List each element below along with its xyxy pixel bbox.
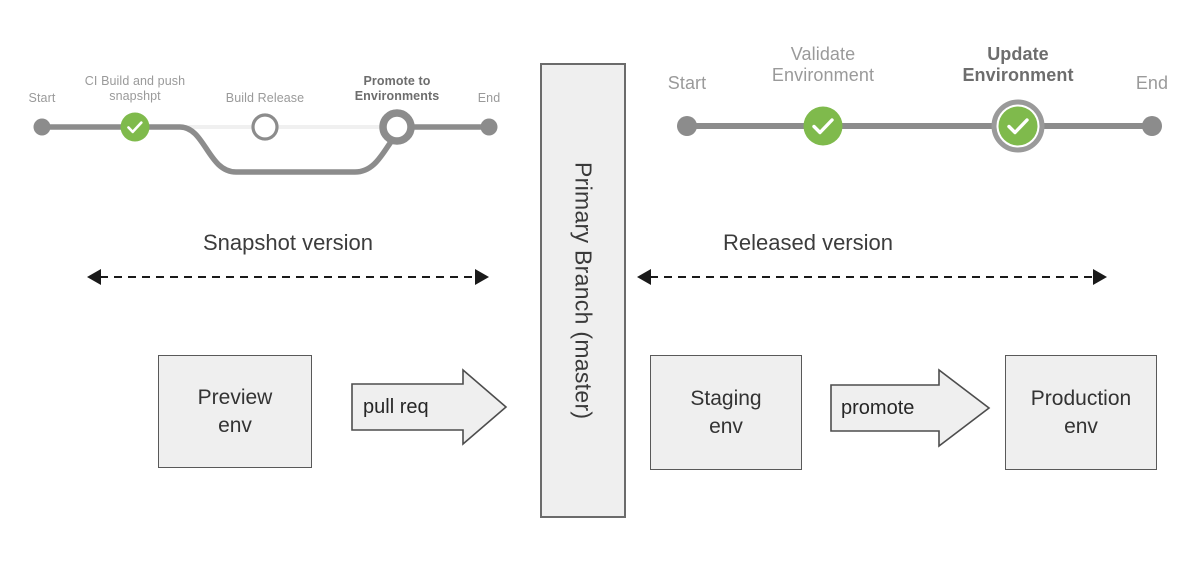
- node-label-build-release: Build Release: [205, 91, 325, 106]
- node-end-dot[interactable]: [1142, 116, 1162, 136]
- node-label-update: Update Environment: [923, 44, 1113, 86]
- node-start-dot[interactable]: [677, 116, 697, 136]
- primary-branch-box[interactable]: Primary Branch (master): [540, 63, 626, 518]
- arrow-promote-label: promote: [841, 397, 914, 420]
- node-label-promote: Promote to Environments: [332, 74, 462, 104]
- arrow-pull-req-label: pull req: [363, 396, 429, 419]
- env-box-staging[interactable]: Staging env: [650, 355, 802, 470]
- node-end-dot[interactable]: [481, 119, 498, 136]
- node-ci-build-check[interactable]: [121, 113, 150, 142]
- env-box-production[interactable]: Production env: [1005, 355, 1157, 470]
- diagram-canvas: Start CI Build and push snapshpt Build R…: [0, 0, 1200, 562]
- snapshot-version-range-arrow: [90, 262, 490, 292]
- right-pipeline: Start Validate Environment Update Enviro…: [640, 0, 1200, 200]
- node-promote-ring[interactable]: [383, 113, 411, 141]
- node-start-dot[interactable]: [34, 119, 51, 136]
- primary-branch-label: Primary Branch (master): [570, 162, 597, 419]
- node-label-validate: Validate Environment: [728, 44, 918, 86]
- node-label-ci-build: CI Build and push snapshpt: [60, 74, 210, 104]
- released-version-range-arrow: [640, 262, 1110, 292]
- env-box-preview[interactable]: Preview env: [158, 355, 312, 468]
- right-pipeline-track: [640, 0, 1200, 200]
- node-label-end: End: [459, 91, 519, 106]
- caption-snapshot-version: Snapshot version: [98, 230, 478, 256]
- left-pipeline: Start CI Build and push snapshpt Build R…: [0, 0, 540, 200]
- node-update-check[interactable]: [994, 102, 1042, 150]
- node-label-end: End: [1112, 73, 1192, 94]
- node-validate-check[interactable]: [804, 107, 843, 146]
- node-build-release-ring[interactable]: [253, 115, 277, 139]
- caption-released-version: Released version: [648, 230, 968, 256]
- node-label-start: Start: [647, 73, 727, 94]
